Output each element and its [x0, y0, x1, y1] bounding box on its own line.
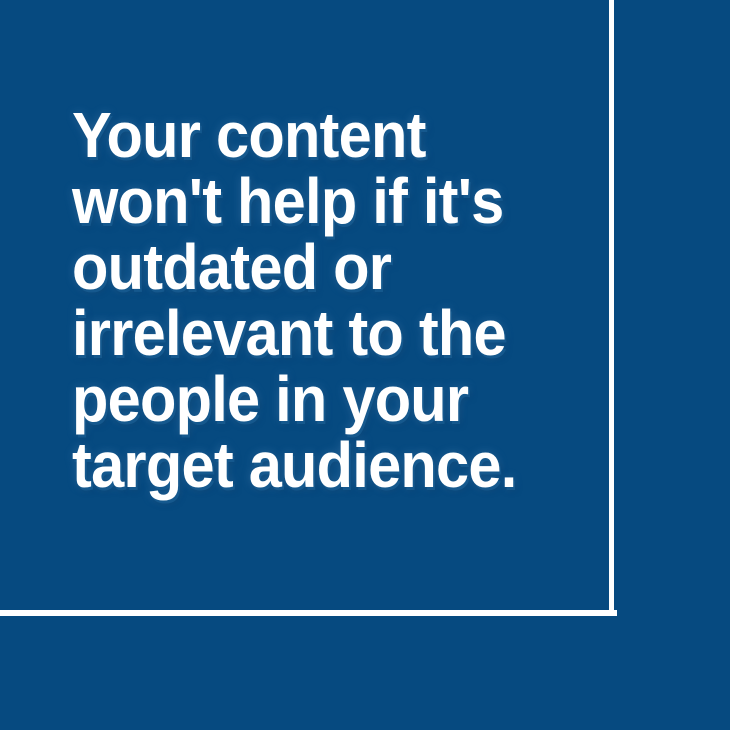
headline-line-1: Your content [72, 102, 556, 168]
headline-line-2: won't help if it's [72, 168, 556, 234]
headline-line-3: outdated or [72, 234, 556, 300]
frame-vertical-rule [609, 0, 614, 616]
headline-line-4: irrelevant to the [72, 300, 556, 366]
frame-horizontal-rule [0, 610, 617, 616]
headline-line-6: target audience. [72, 432, 556, 498]
headline: Your content won't help if it's outdated… [72, 102, 556, 498]
headline-line-5: people in your [72, 366, 556, 432]
quote-card: Your content won't help if it's outdated… [0, 0, 730, 730]
